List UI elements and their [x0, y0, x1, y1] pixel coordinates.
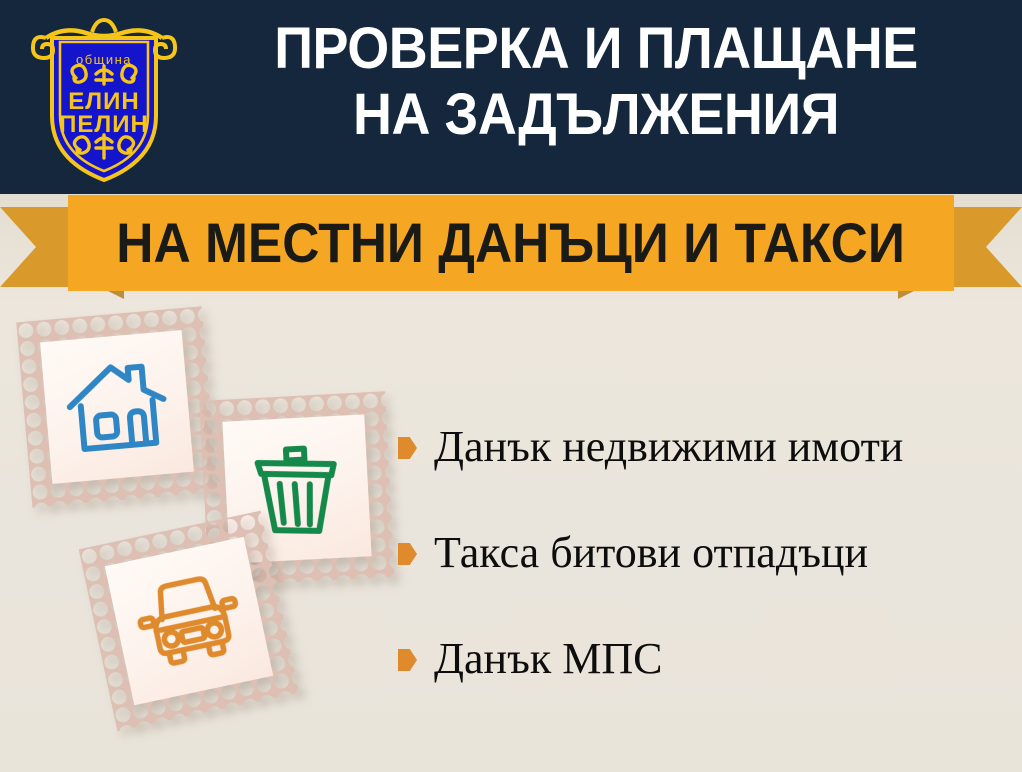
- list-item-label: Такса битови отпадъци: [434, 531, 868, 575]
- stamp-inner: [40, 330, 194, 484]
- house-icon: [61, 355, 173, 460]
- bullet-arrow-icon: [398, 649, 417, 671]
- stamp-card-vehicle: [79, 511, 300, 732]
- stamp-inner: [105, 537, 273, 705]
- stamp-card-property: [16, 306, 218, 508]
- municipality-logo: община ЕЛИН ПЕЛИН: [24, 8, 184, 188]
- ribbon-label: НА МЕСТНИ ДАНЪЦИ И ТАКСИ: [117, 215, 906, 271]
- list-item-label: Данък недвижими имоти: [434, 425, 903, 469]
- list-item-label: Данък МПС: [434, 637, 662, 681]
- bullet-arrow-icon: [398, 437, 417, 459]
- list-item: Данък недвижими имоти: [398, 420, 1008, 474]
- title-line-1: ПРОВЕРКА И ПЛАЩАНЕ: [218, 16, 973, 82]
- tax-type-list: Данък недвижими имоти Такса битови отпад…: [398, 420, 1008, 686]
- bullet-arrow-icon: [398, 543, 417, 565]
- poster-canvas: община ЕЛИН ПЕЛИН: [0, 0, 1022, 772]
- list-item: Такса битови отпадъци: [398, 526, 1008, 580]
- page-title: ПРОВЕРКА И ПЛАЩАНЕ НА ЗАДЪЛЖЕНИЯ: [190, 16, 1002, 148]
- ribbon-banner: НА МЕСТНИ ДАНЪЦИ И ТАКСИ: [68, 195, 954, 291]
- header-bar: община ЕЛИН ПЕЛИН: [0, 0, 1022, 194]
- car-front-icon: [129, 568, 249, 674]
- stamp-card-group: [0, 300, 420, 772]
- subtitle-ribbon: НА МЕСТНИ ДАНЪЦИ И ТАКСИ: [0, 193, 1022, 301]
- title-line-2: НА ЗАДЪЛЖЕНИЯ: [218, 82, 973, 148]
- list-item: Данък МПС: [398, 632, 1008, 686]
